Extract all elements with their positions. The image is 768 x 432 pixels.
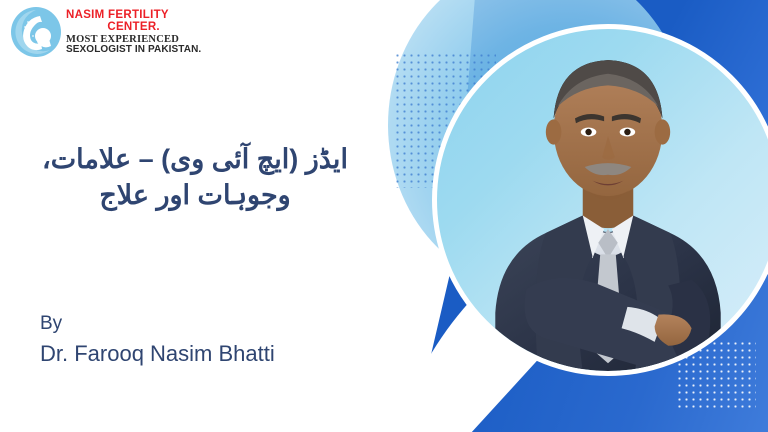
brand-line-2: CENTER. (66, 22, 201, 34)
mother-and-child-circle-icon (10, 6, 62, 58)
byline-by-label: By (40, 310, 275, 338)
byline-author: Dr. Farooq Nasim Bhatti (40, 338, 275, 370)
article-banner: NASIM FERTILITY CENTER. MOST EXPERIENCED… (0, 0, 768, 432)
article-title-line-2: وجوہات اور علاج (0, 178, 390, 214)
byline: By Dr. Farooq Nasim Bhatti (40, 310, 275, 369)
doctor-portrait-illustration (437, 29, 768, 371)
brand-logo[interactable]: NASIM FERTILITY CENTER. MOST EXPERIENCED… (10, 6, 201, 58)
portrait-ring (432, 24, 768, 376)
portrait-circle (432, 24, 768, 376)
brand-line-4: SEXOLOGIST IN PAKISTAN. (66, 45, 201, 55)
article-title-line-1: ایڈز (ایچ آئی وی) – علامات، (0, 142, 390, 178)
brand-logo-text: NASIM FERTILITY CENTER. MOST EXPERIENCED… (66, 8, 201, 55)
article-title: ایڈز (ایچ آئی وی) – علامات، وجوہات اور ع… (0, 142, 396, 213)
